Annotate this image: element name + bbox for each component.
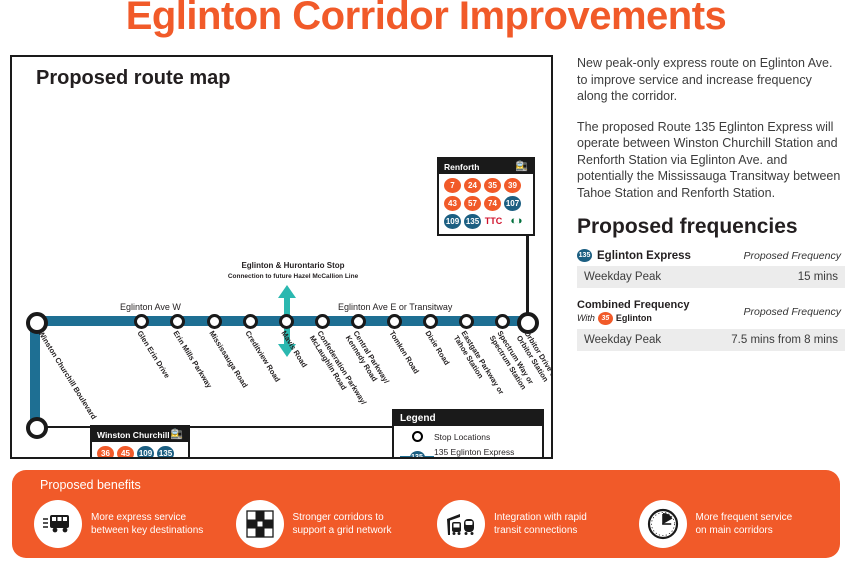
benefit-item: More frequent service on main corridors bbox=[639, 500, 841, 548]
corridor-label-west: Eglinton Ave W bbox=[120, 302, 181, 312]
stop-marker-glen-erin[interactable] bbox=[134, 314, 149, 329]
route-badge[interactable]: 109 bbox=[137, 446, 154, 459]
stop-marker-dixie[interactable] bbox=[423, 314, 438, 329]
route-badge[interactable]: 24 bbox=[464, 178, 481, 193]
corridor-label-east: Eglinton Ave E or Transitway bbox=[338, 302, 452, 312]
benefit-text: Stronger corridors to support a grid net… bbox=[293, 511, 392, 537]
go-transit-logo-icon: ◐◑ bbox=[506, 214, 526, 227]
hurontario-note-line2: Connection to future Hazel McCallion Lin… bbox=[208, 271, 378, 282]
bus-icon bbox=[34, 500, 82, 548]
map-title: Proposed route map bbox=[36, 67, 230, 90]
station-box-renforth: Renforth 🚉 7 24 35 39 43 57 74 107 109 1… bbox=[437, 157, 535, 236]
combined-frequency-with: With 35 Eglinton bbox=[577, 312, 689, 325]
stop-marker-creditview[interactable] bbox=[243, 314, 258, 329]
route-badge[interactable]: 74 bbox=[484, 196, 501, 211]
frequency-row-label: Weekday Peak bbox=[584, 334, 661, 346]
route-badge[interactable]: 135 bbox=[464, 214, 481, 229]
legend: Legend Stop Locations 135 135 Eglinton E… bbox=[392, 409, 544, 459]
route-badge: 135 bbox=[410, 451, 425, 460]
stop-label-3: Mississauga Road bbox=[207, 329, 249, 389]
stop-marker-tomken[interactable] bbox=[387, 314, 402, 329]
frequency-column-header: Proposed Frequency bbox=[744, 306, 841, 318]
frequency-table-2-header: Combined Frequency With 35 Eglinton Prop… bbox=[577, 299, 845, 329]
combined-frequency-label: Combined Frequency With 35 Eglinton bbox=[577, 299, 689, 325]
frequency-row-value: 15 mins bbox=[798, 271, 838, 283]
legend-body: Stop Locations 135 135 Eglinton Express … bbox=[394, 426, 542, 459]
benefit-text: More express service between key destina… bbox=[91, 511, 203, 537]
route-badge[interactable]: 57 bbox=[464, 196, 481, 211]
station-box-wc-header: Winston Churchill 🚉 bbox=[92, 427, 188, 442]
benefit-text: More frequent service on main corridors bbox=[696, 511, 793, 537]
page-title: Eglinton Corridor Improvements bbox=[0, 0, 852, 39]
clock-icon bbox=[639, 500, 687, 548]
benefit-line1: More frequent service bbox=[696, 512, 793, 523]
legend-item-stops: Stop Locations bbox=[400, 431, 536, 442]
proposed-route-map-panel: Proposed route map Eglinton Ave W Eglint… bbox=[10, 55, 553, 459]
route-badge[interactable]: 107 bbox=[504, 196, 521, 211]
sidebar-body: New peak-only express route on Eglinton … bbox=[577, 55, 845, 201]
stop-label-1: Glen Erin Drive bbox=[135, 329, 171, 380]
route-badge[interactable]: 109 bbox=[444, 214, 461, 229]
poster-root: Eglinton Corridor Improvements Proposed … bbox=[0, 0, 852, 571]
benefit-line2: transit connections bbox=[494, 525, 577, 536]
stop-label-8: Tomken Road bbox=[387, 329, 421, 375]
route-badge[interactable]: 7 bbox=[444, 178, 461, 193]
stop-marker-central-parkway[interactable] bbox=[351, 314, 366, 329]
legend-label: 135 Eglinton Express bbox=[434, 447, 514, 457]
combined-frequency-title: Combined Frequency bbox=[577, 299, 689, 311]
benefit-line1: Stronger corridors to bbox=[293, 512, 384, 523]
sidebar-paragraph-1: New peak-only express route on Eglinton … bbox=[577, 55, 845, 105]
route-badge[interactable]: 43 bbox=[444, 196, 461, 211]
legend-item-express: 135 135 Eglinton Express New Express Rou… bbox=[400, 447, 536, 459]
benefit-item: Stronger corridors to support a grid net… bbox=[236, 500, 438, 548]
benefit-item: Integration with rapid transit connectio… bbox=[437, 500, 639, 548]
stop-marker-eastgate-tahoe[interactable] bbox=[459, 314, 474, 329]
route-badge[interactable]: 45 bbox=[117, 446, 134, 459]
stop-label-9: Dixie Road bbox=[423, 329, 451, 367]
stop-marker-mavis[interactable] bbox=[279, 314, 294, 329]
hurontario-stop-note: Eglinton & Hurontario Stop Connection to… bbox=[208, 260, 378, 282]
stop-label-2: Erin Mills Parkway bbox=[171, 329, 214, 390]
grid-icon bbox=[236, 500, 284, 548]
benefit-line1: Integration with rapid bbox=[494, 512, 587, 523]
stop-marker-erin-mills[interactable] bbox=[170, 314, 185, 329]
route-badge[interactable]: 135 bbox=[157, 446, 174, 459]
benefit-line2: between key destinations bbox=[91, 525, 203, 536]
sidebar-paragraph-2: The proposed Route 135 Eglinton Express … bbox=[577, 119, 845, 202]
legend-title: Legend bbox=[394, 411, 542, 426]
frequency-table-1-header: 135 Eglinton Express Proposed Frequency bbox=[577, 249, 845, 266]
station-box-wc-name: Winston Churchill bbox=[97, 430, 170, 440]
stop-location-icon bbox=[400, 431, 434, 442]
benefit-text: Integration with rapid transit connectio… bbox=[494, 511, 587, 537]
transit-station-icon bbox=[437, 500, 485, 548]
with-prefix: With bbox=[577, 312, 595, 325]
legend-label-express: 135 Eglinton Express New Express Route bbox=[434, 447, 514, 459]
route-badge[interactable]: 36 bbox=[97, 446, 114, 459]
legend-label: Stop Locations bbox=[434, 432, 490, 442]
station-box-renforth-routes: 7 24 35 39 43 57 74 107 109 135 TTC ◐◑ bbox=[439, 174, 533, 234]
with-route-name: Eglinton bbox=[616, 312, 652, 325]
express-route-icon: 135 bbox=[400, 452, 434, 460]
benefits-items: More express service between key destina… bbox=[34, 500, 840, 548]
frequency-row-label: Weekday Peak bbox=[584, 271, 661, 283]
proposed-benefits-bar: Proposed benefits More express servic bbox=[12, 470, 840, 558]
frequency-column-header: Proposed Frequency bbox=[744, 250, 841, 262]
sidebar: New peak-only express route on Eglinton … bbox=[577, 55, 845, 362]
station-box-wc-routes: 36 45 109 135 ◐◑ bbox=[92, 442, 188, 459]
frequencies-heading: Proposed frequencies bbox=[577, 215, 845, 239]
benefits-heading: Proposed benefits bbox=[40, 478, 141, 492]
station-box-renforth-header: Renforth 🚉 bbox=[439, 159, 533, 174]
frequency-row: Weekday Peak 7.5 mins from 8 mins bbox=[577, 329, 845, 351]
benefit-line1: More express service bbox=[91, 512, 186, 523]
route-badge: 35 bbox=[598, 312, 613, 325]
benefit-item: More express service between key destina… bbox=[34, 500, 236, 548]
stop-marker-spectrum[interactable] bbox=[495, 314, 510, 329]
rail-icon: 🚉 bbox=[516, 161, 528, 172]
station-box-renforth-name: Renforth bbox=[444, 162, 479, 172]
route-name: Eglinton Express bbox=[597, 250, 691, 262]
hurontario-note-line1: Eglinton & Hurontario Stop bbox=[208, 260, 378, 271]
stop-marker-terminus-south[interactable] bbox=[26, 417, 48, 439]
stop-marker-confederation[interactable] bbox=[315, 314, 330, 329]
stop-marker-mississauga-rd[interactable] bbox=[207, 314, 222, 329]
legend-sublabel: New Express Route bbox=[434, 457, 514, 459]
benefit-line2: support a grid network bbox=[293, 525, 392, 536]
ttc-logo-icon: TTC bbox=[484, 214, 503, 227]
frequency-row-value: 7.5 mins from 8 mins bbox=[731, 334, 838, 346]
frequency-route-label: 135 Eglinton Express bbox=[577, 249, 691, 262]
rail-icon: 🚉 bbox=[171, 429, 183, 440]
station-box-winston-churchill: Winston Churchill 🚉 36 45 109 135 ◐◑ bbox=[90, 425, 190, 459]
route-badge[interactable]: 39 bbox=[504, 178, 521, 193]
benefit-line2: on main corridors bbox=[696, 525, 773, 536]
route-badge: 135 bbox=[577, 249, 592, 262]
stop-label-0: Winston Churchill Boulevard bbox=[36, 329, 98, 421]
route-badge[interactable]: 35 bbox=[484, 178, 501, 193]
frequency-row: Weekday Peak 15 mins bbox=[577, 266, 845, 288]
